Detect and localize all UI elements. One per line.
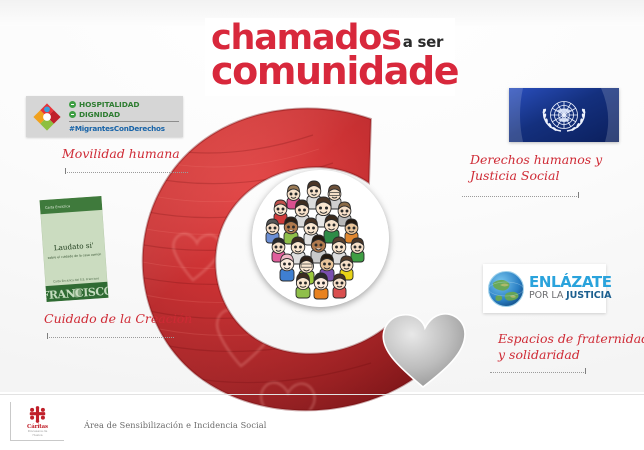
enlazate-title: ENLÁZATE <box>529 275 612 290</box>
connector-tick <box>578 192 579 198</box>
connector-tick <box>585 368 586 374</box>
plus-dot-icon <box>69 111 76 118</box>
label-espacios-fraternidad: Espacios de fraternidad y solidaridad <box>498 331 644 364</box>
footer-department-text: Área de Sensibilización e Incidencia Soc… <box>84 420 266 430</box>
pinwheel-icon <box>30 100 64 134</box>
label-derechos-line-1: Derechos humanos y <box>470 152 602 168</box>
connector-movilidad-humana <box>65 172 188 183</box>
label-cuidado-creacion: Cuidado de la Creación <box>44 311 192 327</box>
logo-divider <box>69 121 179 122</box>
label-espacios-line-1: Espacios de fraternidad <box>498 331 644 347</box>
caritas-logo: Cáritas Diocesana de Huelva <box>10 402 64 441</box>
presentation-slide: chamados a ser comunidade HOSPITALIDAD D… <box>0 0 644 450</box>
connector-tick <box>65 168 66 174</box>
enlazate-subtitle-bold: JUSTICIA <box>566 290 611 301</box>
globe-icon <box>486 269 526 309</box>
enlazate-subtitle-light: POR LA <box>529 290 566 301</box>
book-cover-svg: Carta Encíclica Laudato si' sobre el cui… <box>40 196 109 302</box>
logo-line-dignidad: DIGNIDAD <box>69 110 179 120</box>
enlazate-por-la-justicia-logo: ENLÁZATE POR LA JUSTICIA <box>483 264 606 313</box>
logo-hospitalidad-text: HOSPITALIDAD <box>79 100 139 110</box>
diverse-crowd-illustration <box>252 170 389 307</box>
label-espacios-line-2: y solidaridad <box>498 347 644 363</box>
connector-espacios-fraternidad <box>490 372 586 383</box>
label-derechos-line-2: Justicia Social <box>470 168 602 184</box>
caritas-cross-icon <box>28 406 47 423</box>
un-flag-svg <box>509 88 619 142</box>
slide-footer: Cáritas Diocesana de Huelva Área de Sens… <box>0 394 644 450</box>
enlazate-text-block: ENLÁZATE POR LA JUSTICIA <box>529 275 612 301</box>
caritas-sub-line-2: Huelva <box>32 434 42 438</box>
page-title: chamados a ser comunidade <box>205 18 455 96</box>
connector-derechos-humanos <box>462 196 579 207</box>
united-nations-flag <box>509 88 619 142</box>
laudato-si-book-cover: Carta Encíclica Laudato si' sobre el cui… <box>40 196 109 302</box>
title-comunidade: comunidade <box>211 53 449 90</box>
logo-line-hashtag: #MigrantesConDerechos <box>69 124 179 133</box>
logo-hashtag-text: #MigrantesConDerechos <box>69 124 165 133</box>
connector-tick <box>47 333 48 339</box>
label-movilidad-humana: Movilidad humana <box>62 146 180 162</box>
enlazate-subtitle: POR LA JUSTICIA <box>529 291 612 301</box>
logo-dignidad-text: DIGNIDAD <box>79 110 120 120</box>
label-derechos-humanos: Derechos humanos y Justicia Social <box>470 152 602 185</box>
logo-text-block: HOSPITALIDAD DIGNIDAD #MigrantesConDerec… <box>69 100 179 134</box>
plus-dot-icon <box>69 101 76 108</box>
connector-cuidado-creacion <box>47 337 174 348</box>
logo-line-hospitalidad: HOSPITALIDAD <box>69 100 179 110</box>
title-a-ser: a ser <box>403 35 443 50</box>
hospitalidad-dignidad-logo: HOSPITALIDAD DIGNIDAD #MigrantesConDerec… <box>26 96 183 137</box>
footer-divider <box>0 394 644 395</box>
